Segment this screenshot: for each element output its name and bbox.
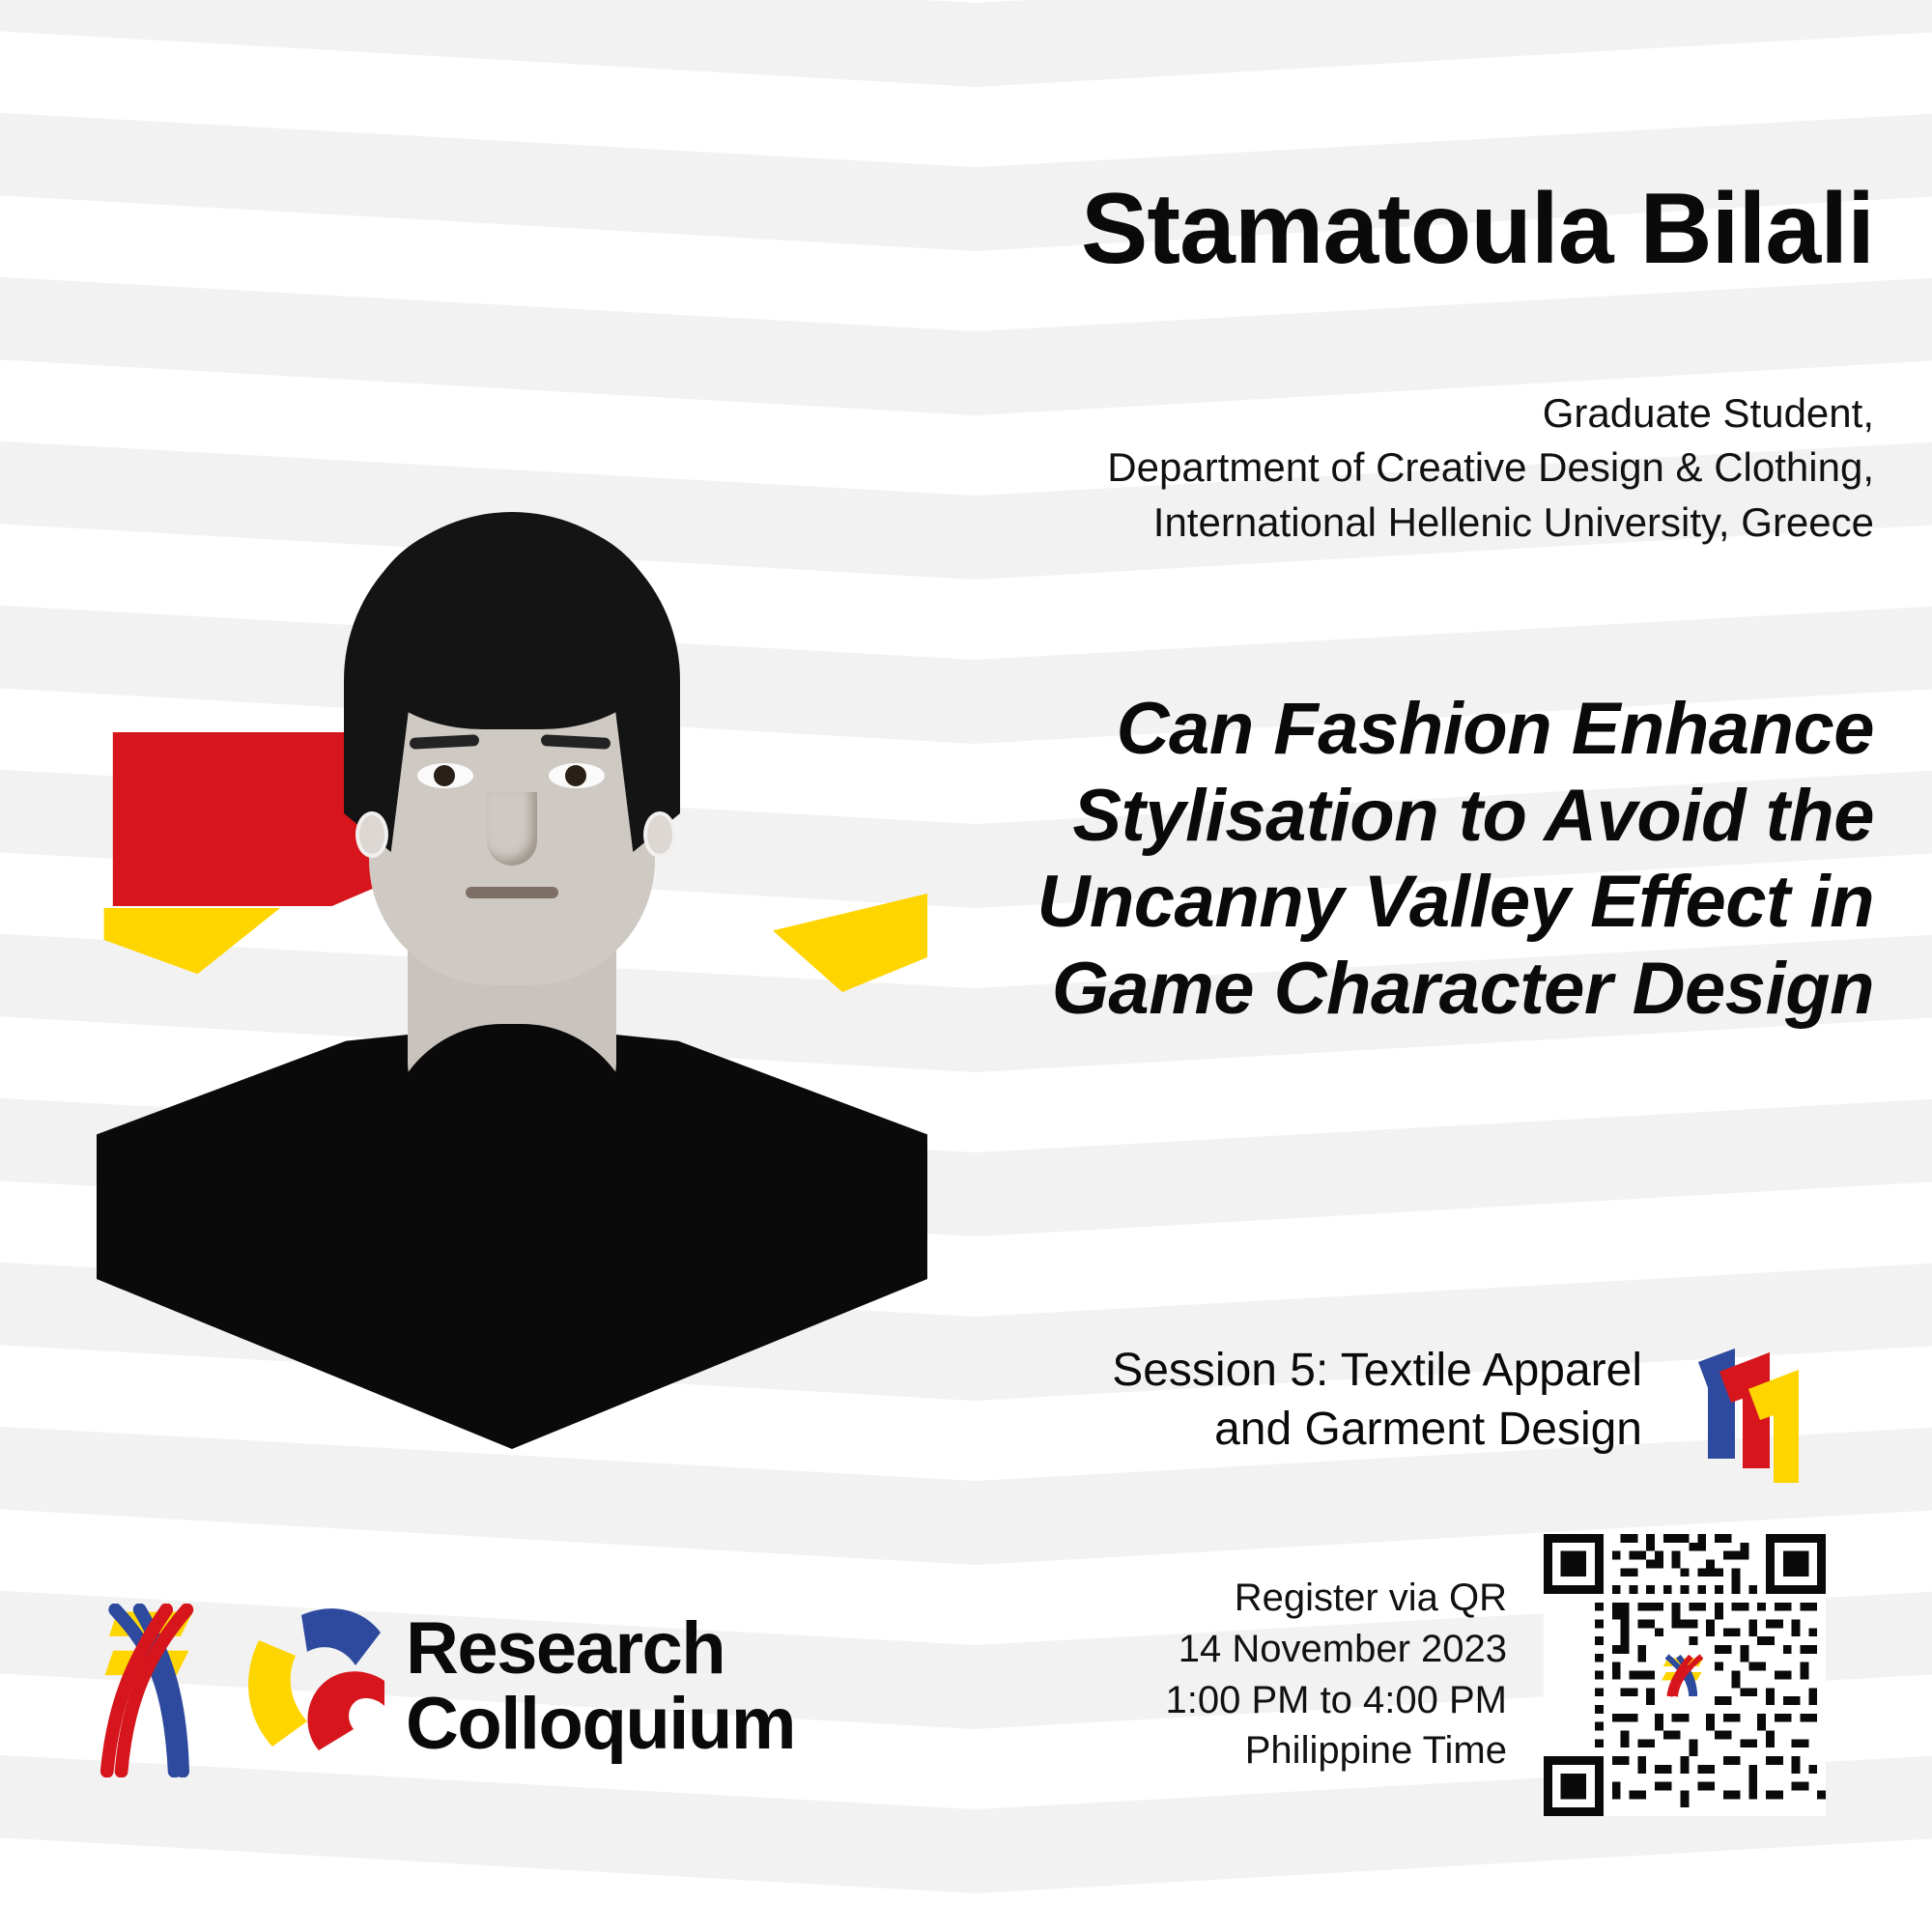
speaker-affiliation: Graduate Student, Department of Creative… (618, 386, 1874, 550)
qr-code[interactable] (1544, 1534, 1826, 1816)
affiliation-line-1: Graduate Student, (618, 386, 1874, 440)
portrait-eye-right (549, 763, 605, 788)
speaker-photo-block (97, 483, 927, 1449)
portrait-ear-right (643, 811, 676, 858)
session-11-logo-icon (1681, 1343, 1816, 1483)
speaker-name: Stamatoula Bilali (580, 176, 1874, 282)
colloquium-swoosh-logo-icon (240, 1605, 394, 1775)
portrait-eye-left (417, 763, 473, 788)
affiliation-line-2: Department of Creative Design & Clothing… (618, 440, 1874, 495)
register-line-2: 14 November 2023 (1101, 1624, 1507, 1675)
registration-details: Register via QR 14 November 2023 1:00 PM… (1101, 1573, 1507, 1776)
brand-line-1: Research (406, 1611, 908, 1687)
register-line-4: Philippine Time (1101, 1725, 1507, 1776)
portrait-collar (386, 1024, 638, 1246)
affiliation-line-3: International Hellenic University, Greec… (618, 496, 1874, 550)
session-line-2: and Garment Design (773, 1400, 1642, 1459)
portrait-mouth (466, 887, 558, 898)
chevron-stripe (0, 0, 1932, 87)
session-line-1: Session 5: Textile Apparel (773, 1341, 1642, 1400)
talk-title: Can Fashion Enhance Stylisation to Avoid… (889, 686, 1874, 1033)
session-label: Session 5: Textile Apparel and Garment D… (773, 1341, 1642, 1460)
brand-wordmark: Research Colloquium (406, 1611, 908, 1761)
portrait-nose (487, 792, 537, 866)
brand-line-2: Colloquium (406, 1687, 908, 1762)
portrait-ear-left (355, 811, 388, 858)
poster-canvas: Stamatoula Bilali Graduate Student, Depa… (0, 0, 1932, 1932)
register-line-1: Register via QR (1101, 1573, 1507, 1624)
portrait-fringe (359, 522, 665, 729)
speaker-portrait (97, 483, 927, 1449)
register-line-3: 1:00 PM to 4:00 PM (1101, 1675, 1507, 1726)
woven-ribbon-logo-icon (89, 1604, 203, 1777)
